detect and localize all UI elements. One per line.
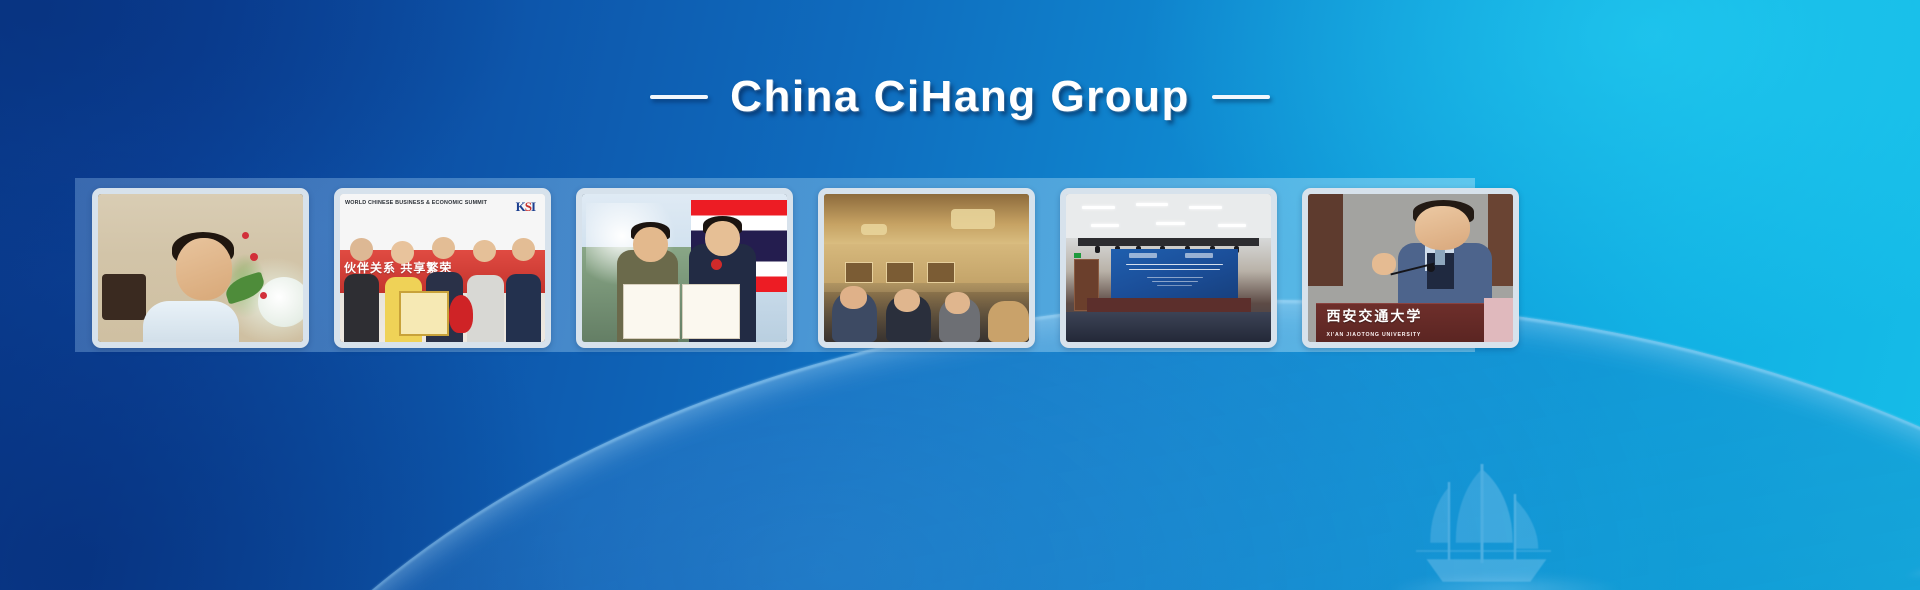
gallery-item-6[interactable]: 西安交通大学 XI'AN JIAOTONG UNIVERSITY	[1302, 188, 1519, 348]
face-shape	[176, 238, 232, 300]
chandelier-2	[951, 209, 995, 229]
red-bud-1	[250, 253, 258, 261]
title-dash-left-icon	[650, 95, 708, 99]
head-2	[391, 241, 414, 263]
person-right-face	[705, 221, 740, 257]
page-title: China CiHang Group	[730, 72, 1190, 122]
lighting-truss	[1078, 238, 1258, 245]
lectern-side-panel	[1484, 298, 1513, 342]
chair-back	[102, 274, 146, 320]
ceiling-lamp-5	[1156, 222, 1185, 225]
microphone-head-icon	[1427, 264, 1435, 272]
gallery-item-5[interactable]	[1060, 188, 1277, 348]
person-left-face	[633, 227, 668, 263]
wood-panel-left	[1308, 194, 1343, 286]
ceiling-lamp-2	[1136, 203, 1169, 206]
red-vase-trophy	[449, 295, 474, 333]
delegate-2-face	[894, 289, 921, 313]
screen-title-line-1	[1126, 264, 1223, 265]
ksi-logo: KSI	[516, 199, 535, 215]
person-5	[506, 274, 541, 342]
stage-led-screen	[1111, 249, 1238, 299]
speaker-face	[1415, 206, 1470, 250]
signed-document-right	[682, 284, 739, 339]
head-1	[350, 238, 373, 260]
shirt-shape	[143, 301, 239, 347]
screen-title-line-2	[1129, 269, 1221, 270]
audience-seating	[1066, 312, 1271, 342]
university-name-chinese: 西安交通大学	[1326, 306, 1422, 326]
gallery-item-4[interactable]	[818, 188, 1035, 348]
gallery-item-2[interactable]: WORLD CHINESE BUSINESS & ECONOMIC SUMMIT…	[334, 188, 551, 348]
photo-grand-hall	[824, 194, 1029, 342]
hall-ceiling	[824, 194, 1029, 244]
photo-gallery: WORLD CHINESE BUSINESS & ECONOMIC SUMMIT…	[92, 188, 1519, 348]
wall-picture-1	[845, 262, 874, 283]
delegate-4	[988, 301, 1029, 342]
exit-sign-icon	[1074, 253, 1081, 258]
screen-sub-line-2	[1152, 281, 1198, 282]
photo-podium-speaker: 西安交通大学 XI'AN JIAOTONG UNIVERSITY	[1308, 194, 1513, 342]
signed-document-left	[623, 284, 680, 339]
lily-flower	[258, 277, 309, 327]
gallery-item-1[interactable]	[92, 188, 309, 348]
head-5	[512, 238, 535, 260]
head-4	[473, 240, 496, 262]
auditorium-ceiling	[1066, 194, 1271, 238]
screen-sub-line-3	[1157, 285, 1193, 286]
ceiling-lamp-1	[1082, 206, 1115, 209]
chandelier-1	[861, 224, 887, 235]
screen-logo-left	[1129, 253, 1157, 258]
title-dash-right-icon	[1212, 95, 1270, 99]
banner-title-row: China CiHang Group	[0, 72, 1920, 122]
screen-sub-line-1	[1147, 277, 1203, 278]
certificate	[399, 291, 448, 336]
spotlight-1	[1095, 246, 1100, 253]
summit-banner-text: WORLD CHINESE BUSINESS & ECONOMIC SUMMIT	[345, 200, 487, 207]
head-3	[432, 237, 455, 259]
university-name-english: XI'AN JIAOTONG UNIVERSITY	[1326, 332, 1421, 338]
photo-summit-award: WORLD CHINESE BUSINESS & ECONOMIC SUMMIT…	[340, 194, 545, 342]
delegate-3-face	[945, 292, 970, 314]
photo-auditorium	[1066, 194, 1271, 342]
hero-banner: China CiHang Group WORLD CHINESE BUSINES…	[0, 0, 1920, 590]
sailing-ship-icon	[1390, 455, 1580, 590]
screen-logo-right	[1185, 253, 1213, 258]
red-bud-3	[260, 292, 267, 299]
wood-panel-right	[1488, 194, 1513, 286]
photo-portrait-chairman	[98, 194, 303, 342]
delegate-1-face	[840, 286, 867, 310]
ceiling-lamp-3	[1189, 206, 1222, 209]
person-1	[344, 274, 379, 342]
red-bud-2	[242, 232, 249, 239]
ceiling-lamp-4	[1091, 224, 1120, 227]
wall-picture-2	[886, 262, 915, 283]
wall-picture-3	[927, 262, 956, 283]
ceiling-lamp-6	[1218, 224, 1247, 227]
gallery-item-3[interactable]	[576, 188, 793, 348]
photo-thailand-signing	[582, 194, 787, 342]
